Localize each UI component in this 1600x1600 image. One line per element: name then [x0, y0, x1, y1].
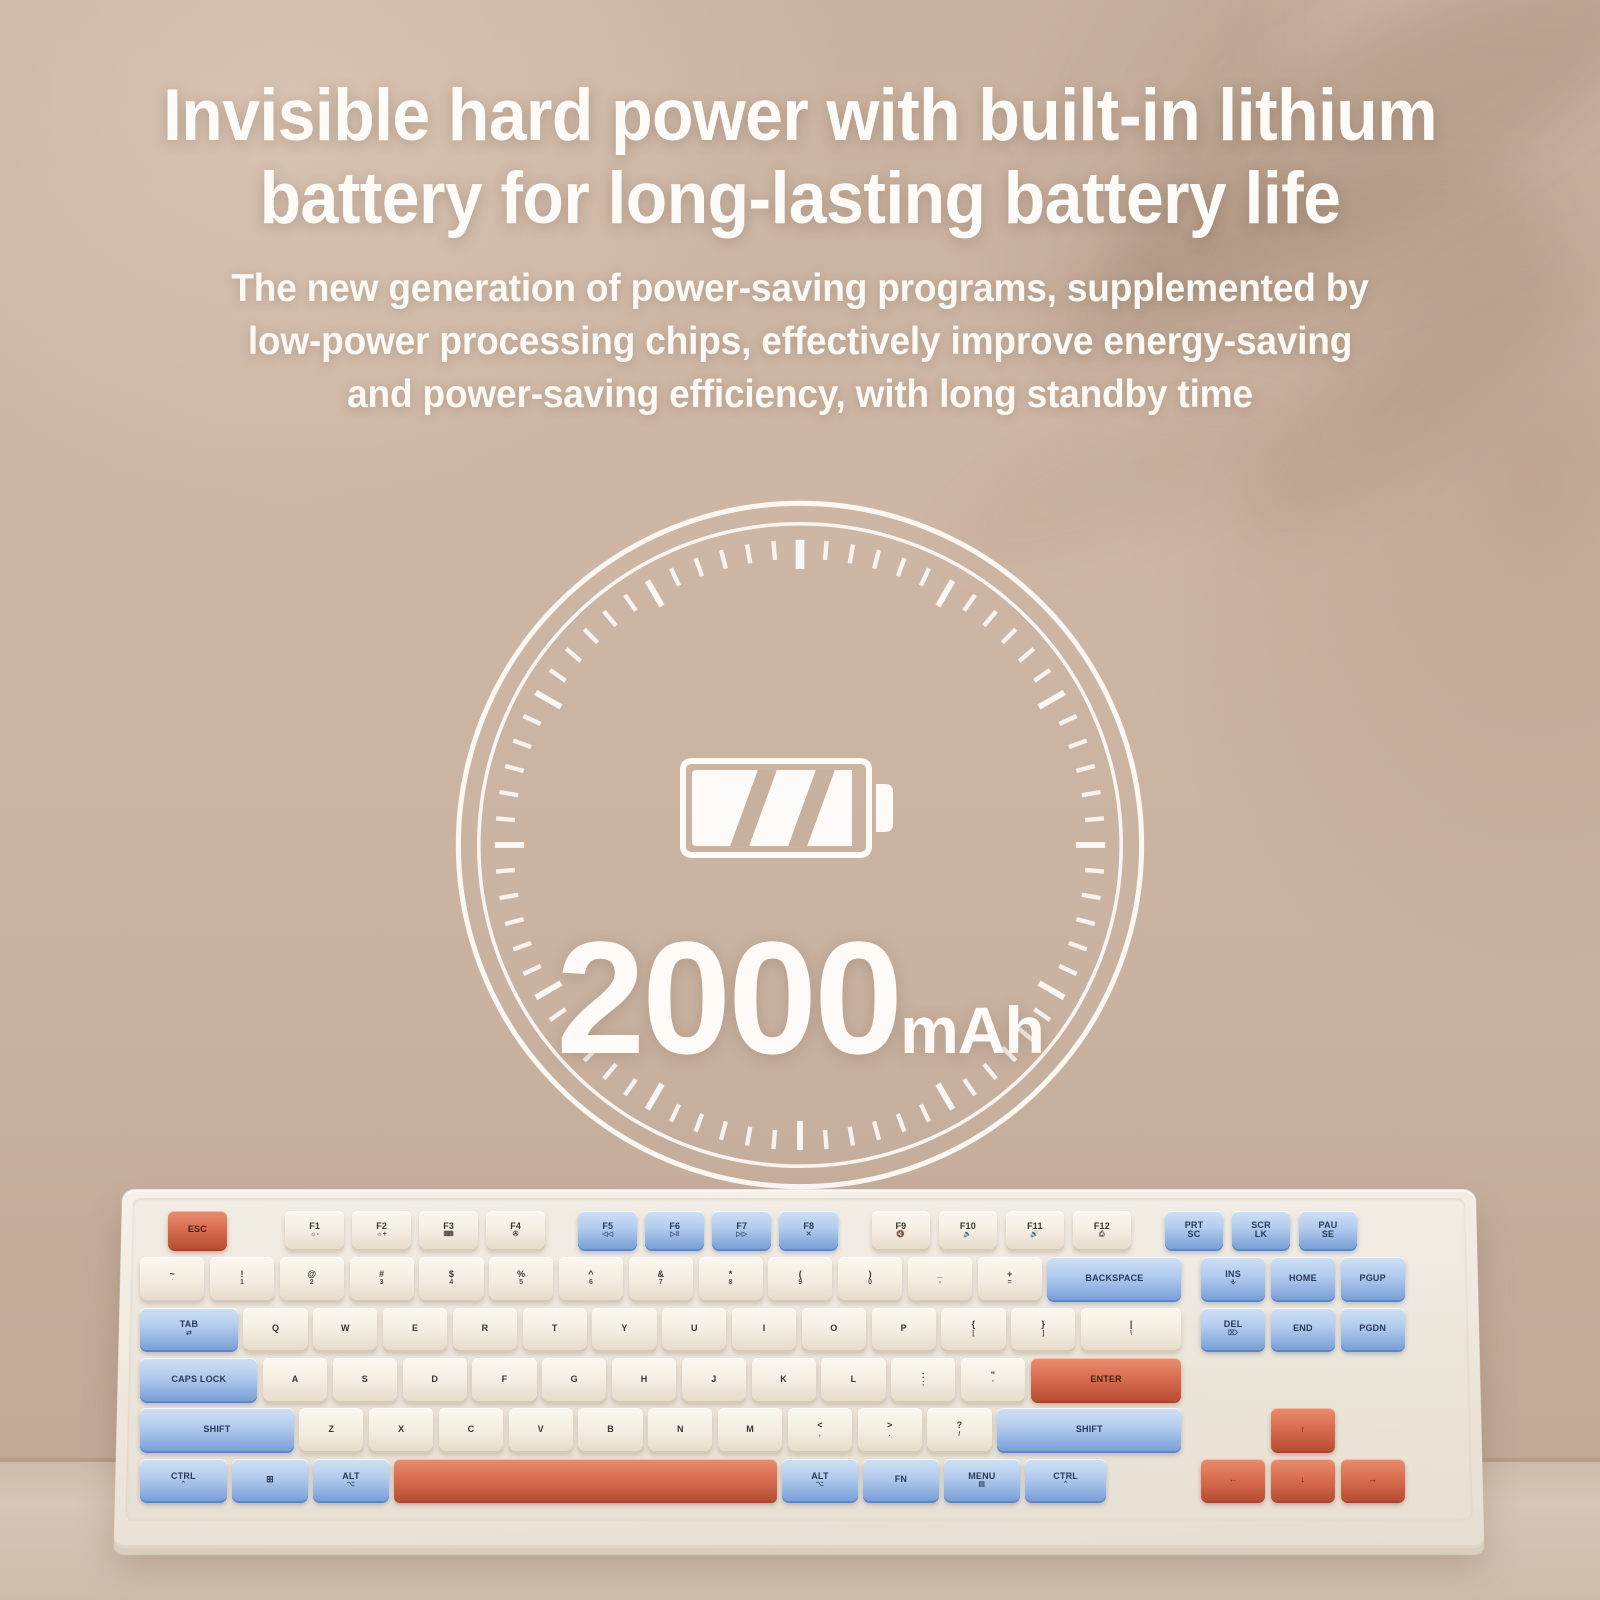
- key-sublabel: 9: [798, 1279, 802, 1286]
- key-alt[interactable]: ALT⌥: [782, 1459, 857, 1502]
- key-space[interactable]: ↑: [1271, 1408, 1335, 1451]
- key-f3[interactable]: F3⌨: [419, 1211, 478, 1250]
- key-label: F5: [602, 1222, 613, 1231]
- key-label: $: [449, 1270, 454, 1279]
- key-f9[interactable]: F9🔇: [872, 1211, 931, 1250]
- capacity-value: 2000: [556, 908, 900, 1087]
- key-label: ALT: [342, 1472, 359, 1481]
- key-sublabel: ⌃: [180, 1481, 186, 1488]
- key-space[interactable]: }]: [1011, 1308, 1075, 1351]
- key-f4[interactable]: F4✇: [486, 1211, 545, 1250]
- key-t[interactable]: T: [523, 1308, 587, 1351]
- key-label: INS: [1225, 1270, 1241, 1279]
- key-sublabel: ⎀: [1230, 1279, 1236, 1286]
- key-z[interactable]: Z: [299, 1408, 363, 1451]
- key-label: &: [657, 1270, 664, 1279]
- key-prt-sc[interactable]: PRT SC: [1165, 1211, 1224, 1250]
- key-space[interactable]: %5: [489, 1257, 553, 1300]
- key-label: S: [362, 1375, 368, 1384]
- key-label: SCR LK: [1251, 1221, 1271, 1240]
- key-space[interactable]: →: [1341, 1459, 1405, 1502]
- key-shift[interactable]: SHIFT: [140, 1408, 294, 1451]
- battery-fill: [692, 770, 860, 846]
- key-sublabel: -: [939, 1279, 942, 1286]
- key-f7[interactable]: F7▷▷: [712, 1211, 771, 1250]
- battery-capacity: 2000mAh: [0, 918, 1600, 1078]
- key-label: END: [1293, 1324, 1313, 1333]
- key-space[interactable]: @2: [280, 1257, 344, 1300]
- key-sublabel: ,: [819, 1431, 821, 1438]
- key-f10[interactable]: F10🔉: [939, 1211, 998, 1250]
- key-label: E: [412, 1324, 418, 1333]
- key-label: SHIFT: [203, 1425, 230, 1434]
- key-sublabel: ⇄: [186, 1330, 192, 1337]
- battery-terminal-nub: [876, 784, 893, 832]
- key-label: ESC: [188, 1225, 207, 1234]
- key-backspace[interactable]: BACKSPACE: [1047, 1257, 1181, 1300]
- key-f[interactable]: F: [472, 1358, 536, 1401]
- key-label: {: [972, 1320, 976, 1329]
- key-label: V: [538, 1425, 544, 1434]
- key-caps-lock[interactable]: CAPS LOCK: [140, 1358, 257, 1401]
- key-label: H: [641, 1375, 648, 1384]
- key-u[interactable]: U: [662, 1308, 726, 1351]
- key-sublabel: 🔉: [963, 1231, 972, 1238]
- key-label: F4: [510, 1222, 521, 1231]
- key-label: ^: [588, 1270, 593, 1279]
- key-label: ENTER: [1090, 1375, 1122, 1384]
- key-label: ~: [170, 1270, 175, 1279]
- key-i[interactable]: I: [732, 1308, 796, 1351]
- key-label: ←: [1229, 1475, 1238, 1484]
- mechanical-keyboard: ESCF1☼-F2☼+F3⌨F4✇F5◁◁F6▷‖F7▷▷F8✕F9🔇F10🔉F…: [118, 1188, 1480, 1544]
- key-a[interactable]: A: [263, 1358, 327, 1401]
- key-sublabel: ▷‖: [670, 1231, 679, 1238]
- key-c[interactable]: C: [439, 1408, 503, 1451]
- key-l[interactable]: L: [821, 1358, 885, 1401]
- key-label: I: [763, 1324, 766, 1333]
- key-space[interactable]: _-: [908, 1257, 972, 1300]
- key-label: B: [607, 1425, 614, 1434]
- key-label: HOME: [1289, 1274, 1317, 1283]
- key-m[interactable]: M: [718, 1408, 782, 1451]
- key-label: #: [379, 1270, 384, 1279]
- key-label: R: [482, 1324, 489, 1333]
- key-p[interactable]: P: [872, 1308, 936, 1351]
- key-label: F: [502, 1375, 508, 1384]
- key-space[interactable]: &7: [629, 1257, 693, 1300]
- key-ins[interactable]: INS⎀: [1201, 1257, 1265, 1300]
- key-alt[interactable]: ALT⌥: [313, 1459, 388, 1502]
- key-scr-lk[interactable]: SCR LK: [1232, 1211, 1291, 1250]
- key-w[interactable]: W: [313, 1308, 377, 1351]
- key-v[interactable]: V: [509, 1408, 573, 1451]
- key-space[interactable]: ↓: [1271, 1459, 1335, 1502]
- key-sublabel: ⌨: [443, 1231, 453, 1238]
- key-sublabel: ⌥: [347, 1481, 355, 1488]
- key-sublabel: ☼-: [310, 1231, 319, 1238]
- key-sublabel: /: [958, 1431, 960, 1438]
- battery-full-icon: [680, 758, 895, 858]
- key-space[interactable]: ^6: [559, 1257, 623, 1300]
- key-sublabel: 7: [659, 1279, 663, 1286]
- key-f1[interactable]: F1☼-: [285, 1211, 344, 1250]
- key-label: F6: [669, 1222, 680, 1231]
- key-label: @: [307, 1270, 316, 1279]
- key-label: PGUP: [1360, 1274, 1386, 1283]
- key-n[interactable]: N: [648, 1408, 712, 1451]
- key-tab[interactable]: TAB⇄: [140, 1308, 238, 1351]
- key-x[interactable]: X: [369, 1408, 433, 1451]
- key-label: _: [937, 1270, 942, 1279]
- key-label: F9: [895, 1222, 906, 1231]
- key-sublabel: ': [992, 1380, 994, 1387]
- key-space[interactable]: {[: [941, 1308, 1005, 1351]
- key-label: C: [468, 1425, 475, 1434]
- key-shift[interactable]: SHIFT: [997, 1408, 1181, 1451]
- key-label: K: [780, 1375, 787, 1384]
- key-label: U: [691, 1324, 698, 1333]
- key-sublabel: ▤: [978, 1481, 985, 1488]
- key-space[interactable]: (9: [768, 1257, 832, 1300]
- key-sublabel: ✕: [806, 1231, 812, 1238]
- key-label: |: [1130, 1320, 1133, 1329]
- key-space[interactable]: [394, 1459, 776, 1502]
- key-label: ↑: [1301, 1425, 1306, 1434]
- key-label: →: [1368, 1475, 1377, 1484]
- key-r[interactable]: R: [453, 1308, 517, 1351]
- key-sublabel: ▷▷: [736, 1231, 747, 1238]
- key-label: ): [869, 1270, 872, 1279]
- key-label: >: [887, 1421, 892, 1430]
- key-sublabel: =: [1008, 1279, 1012, 1286]
- key-enter[interactable]: ENTER: [1031, 1358, 1182, 1401]
- key-label: F1: [309, 1222, 320, 1231]
- key-label: DEL: [1224, 1320, 1243, 1329]
- key-label: G: [571, 1375, 578, 1384]
- key-q[interactable]: Q: [243, 1308, 307, 1351]
- key-space[interactable]: $4: [419, 1257, 483, 1300]
- key-label: }: [1041, 1320, 1045, 1329]
- key-label: W: [341, 1324, 350, 1333]
- key-space[interactable]: ⊞: [232, 1459, 307, 1502]
- key-label: P: [901, 1324, 907, 1333]
- key-f5[interactable]: F5◁◁: [578, 1211, 637, 1250]
- key-sublabel: ⌃: [1063, 1481, 1069, 1488]
- key-ctrl[interactable]: CTRL⌃: [1025, 1459, 1106, 1502]
- key-label: CTRL: [1053, 1472, 1078, 1481]
- keycap-grid: ESCF1☼-F2☼+F3⌨F4✇F5◁◁F6▷‖F7▷▷F8✕F9🔇F10🔉F…: [129, 1197, 1469, 1520]
- key-space[interactable]: ?/: [927, 1408, 991, 1451]
- key-label: <: [817, 1421, 822, 1430]
- battery-shell: [680, 758, 872, 858]
- key-j[interactable]: J: [682, 1358, 746, 1401]
- key-label: D: [431, 1375, 438, 1384]
- key-fn[interactable]: FN: [863, 1459, 938, 1502]
- key-sublabel: 8: [729, 1279, 733, 1286]
- key-label: %: [517, 1270, 525, 1279]
- capacity-unit: mAh: [900, 993, 1044, 1067]
- key-label: F10: [960, 1222, 976, 1231]
- key-label: (: [799, 1270, 802, 1279]
- key-label: Q: [272, 1324, 279, 1333]
- key-label: F7: [736, 1222, 747, 1231]
- key-sublabel: 1: [240, 1279, 244, 1286]
- key-sublabel: 0: [868, 1279, 872, 1286]
- key-space[interactable]: #3: [350, 1257, 414, 1300]
- key-label: *: [729, 1270, 733, 1279]
- key-b[interactable]: B: [578, 1408, 642, 1451]
- key-sublabel: ]: [1042, 1330, 1045, 1337]
- key-label: SHIFT: [1076, 1425, 1103, 1434]
- key-space[interactable]: >.: [858, 1408, 922, 1451]
- key-label: BACKSPACE: [1085, 1274, 1143, 1283]
- key-sublabel: 6: [589, 1279, 593, 1286]
- key-label: Z: [329, 1425, 335, 1434]
- key-sublabel: .: [889, 1431, 891, 1438]
- key-f2[interactable]: F2☼+: [352, 1211, 411, 1250]
- key-label: CTRL: [171, 1472, 196, 1481]
- key-label: M: [746, 1425, 754, 1434]
- key-pgup[interactable]: PGUP: [1341, 1257, 1405, 1300]
- key-label: F12: [1094, 1222, 1110, 1231]
- key-sublabel: 🔇: [896, 1231, 905, 1238]
- key-sublabel: 4: [449, 1279, 453, 1286]
- key-label: F8: [803, 1222, 814, 1231]
- key-sublabel: 🔊: [1030, 1231, 1039, 1238]
- key-sublabel: ⎙: [1099, 1231, 1105, 1238]
- key-label: Y: [621, 1324, 627, 1333]
- key-sublabel: ☼+: [376, 1231, 387, 1238]
- subheadline: The new generation of power-saving progr…: [40, 262, 1560, 421]
- key-d[interactable]: D: [403, 1358, 467, 1401]
- key-label: ": [991, 1371, 995, 1380]
- key-pgdn[interactable]: PGDN: [1341, 1308, 1405, 1351]
- key-label: PGDN: [1359, 1324, 1386, 1333]
- key-o[interactable]: O: [802, 1308, 866, 1351]
- key-space[interactable]: :;: [891, 1358, 955, 1401]
- key-sublabel: [: [972, 1330, 975, 1337]
- key-space[interactable]: <,: [788, 1408, 852, 1451]
- key-label: ALT: [811, 1472, 828, 1481]
- key-sublabel: `: [171, 1279, 174, 1286]
- key-space[interactable]: "': [961, 1358, 1025, 1401]
- key-sublabel: 5: [519, 1279, 523, 1286]
- key-ctrl[interactable]: CTRL⌃: [140, 1459, 227, 1502]
- key-label: ↓: [1301, 1475, 1306, 1484]
- key-label: F3: [443, 1222, 454, 1231]
- key-sublabel: ⌦: [1228, 1330, 1238, 1337]
- key-f11[interactable]: F11🔊: [1006, 1211, 1065, 1250]
- key-label: L: [851, 1375, 857, 1384]
- key-sublabel: ◁◁: [602, 1231, 613, 1238]
- key-pau-se[interactable]: PAU SE: [1299, 1211, 1358, 1250]
- key-label: ?: [957, 1421, 963, 1430]
- key-space[interactable]: )0: [838, 1257, 902, 1300]
- key-label: T: [552, 1324, 558, 1333]
- key-label: ⊞: [266, 1475, 274, 1484]
- key-f6[interactable]: F6▷‖: [645, 1211, 704, 1250]
- key-label: TAB: [180, 1320, 198, 1329]
- key-y[interactable]: Y: [592, 1308, 656, 1351]
- key-label: N: [677, 1425, 684, 1434]
- key-label: F11: [1027, 1222, 1043, 1231]
- key-home[interactable]: HOME: [1271, 1257, 1335, 1300]
- key-label: PRT SC: [1185, 1221, 1204, 1240]
- key-menu[interactable]: MENU▤: [944, 1459, 1019, 1502]
- key-f8[interactable]: F8✕: [779, 1211, 838, 1250]
- key-label: PAU SE: [1319, 1221, 1338, 1240]
- key-space[interactable]: *8: [699, 1257, 763, 1300]
- key-sublabel: ⌥: [816, 1481, 824, 1488]
- key-label: X: [398, 1425, 404, 1434]
- key-k[interactable]: K: [752, 1358, 816, 1401]
- key-label: FN: [895, 1475, 907, 1484]
- key-g[interactable]: G: [542, 1358, 606, 1401]
- key-sublabel: ✇: [513, 1231, 519, 1238]
- key-end[interactable]: END: [1271, 1308, 1335, 1351]
- key-sublabel: 2: [310, 1279, 314, 1286]
- key-label: +: [1007, 1270, 1012, 1279]
- key-label: !: [240, 1270, 243, 1279]
- key-label: O: [830, 1324, 837, 1333]
- key-label: :: [922, 1371, 925, 1380]
- key-space[interactable]: |\: [1081, 1308, 1182, 1351]
- key-e[interactable]: E: [383, 1308, 447, 1351]
- key-f12[interactable]: F12⎙: [1073, 1211, 1132, 1250]
- key-space[interactable]: !1: [210, 1257, 274, 1300]
- key-sublabel: \: [1130, 1330, 1132, 1337]
- key-sublabel: ;: [922, 1380, 925, 1387]
- headline: Invisible hard power with built-in lithi…: [56, 74, 1544, 240]
- key-s[interactable]: S: [333, 1358, 397, 1401]
- key-space[interactable]: ~`: [140, 1257, 204, 1300]
- key-label: MENU: [968, 1472, 995, 1481]
- key-label: CAPS LOCK: [171, 1375, 226, 1384]
- key-h[interactable]: H: [612, 1358, 676, 1401]
- key-label: A: [292, 1375, 299, 1384]
- key-esc[interactable]: ESC: [168, 1211, 227, 1250]
- key-label: J: [711, 1375, 716, 1384]
- key-space[interactable]: ←: [1201, 1459, 1265, 1502]
- key-space[interactable]: +=: [978, 1257, 1042, 1300]
- key-del[interactable]: DEL⌦: [1201, 1308, 1265, 1351]
- key-label: F2: [376, 1222, 387, 1231]
- key-sublabel: 3: [380, 1279, 384, 1286]
